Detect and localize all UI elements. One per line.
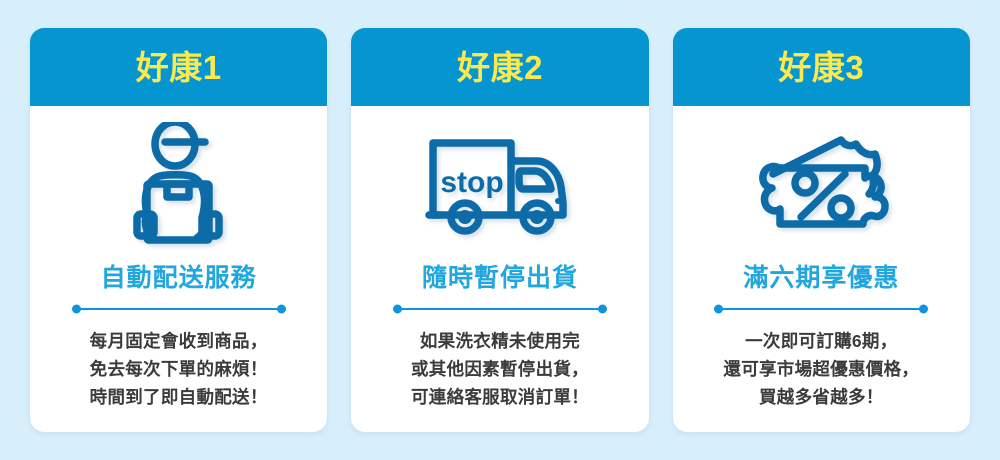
card-3-body: 滿六期享優惠 一次即可訂購6期， 還可享市場超優惠價格， 買越多省越多！ [673,106,970,432]
card-3-description: 一次即可訂購6期， 還可享市場超優惠價格， 買越多省越多！ [723,327,919,412]
card-3-header: 好康3 [673,28,970,106]
card-3-title: 滿六期享優惠 [743,264,899,293]
card-1-desc-line-1: 每月固定會收到商品， [90,327,268,355]
card-1-body: 自動配送服務 每月固定會收到商品， 免去每次下單的麻煩！ 時間到了即自動配送！ [30,106,327,432]
card-3-divider [714,304,928,314]
divider-bar [718,308,924,310]
discount-coupon-percent-icon [673,112,970,262]
card-3-header-title: 好康3 [778,51,864,84]
card-2-desc-line-3: 可連絡客服取消訂單！ [411,383,589,411]
benefits-card-board: 好康1 [0,0,1000,460]
divider-bar [397,308,603,310]
card-1-desc-line-2: 免去每次下單的麻煩！ [90,355,268,383]
truck-stop-label: stop [440,166,503,199]
delivery-person-with-box-icon [30,112,327,262]
benefit-card-1[interactable]: 好康1 [30,28,327,432]
card-2-header-title: 好康2 [457,51,543,84]
card-1-header-title: 好康1 [136,51,222,84]
card-1-title: 自動配送服務 [101,264,257,293]
stop-delivery-truck-icon: stop [351,112,648,262]
benefit-card-2[interactable]: 好康2 [351,28,648,432]
card-2-desc-line-2: 或其他因素暫停出貨， [411,355,589,383]
card-1-description: 每月固定會收到商品， 免去每次下單的麻煩！ 時間到了即自動配送！ [90,327,268,412]
card-2-description: 如果洗衣精未使用完 或其他因素暫停出貨， 可連絡客服取消訂單！ [411,327,589,412]
card-1-header: 好康1 [30,28,327,106]
benefit-card-3[interactable]: 好康3 滿六期享優惠 [673,28,970,432]
card-3-desc-line-3: 買越多省越多！ [723,383,919,411]
card-1-desc-line-3: 時間到了即自動配送！ [90,383,268,411]
card-2-body: stop 隨時暫停出貨 如果洗衣精未使用完 或其他因素暫停出貨， 可連絡客服取消… [351,106,648,432]
card-2-divider [393,304,607,314]
card-2-title: 隨時暫停出貨 [422,264,578,293]
card-1-divider [72,304,286,314]
card-3-desc-line-1: 一次即可訂購6期， [723,327,919,355]
card-3-desc-line-2: 還可享市場超優惠價格， [723,355,919,383]
divider-dot-right [919,304,928,313]
card-2-desc-line-1: 如果洗衣精未使用完 [411,327,589,355]
divider-bar [76,308,282,310]
divider-dot-right [277,304,286,313]
divider-dot-right [598,304,607,313]
card-2-header: 好康2 [351,28,648,106]
